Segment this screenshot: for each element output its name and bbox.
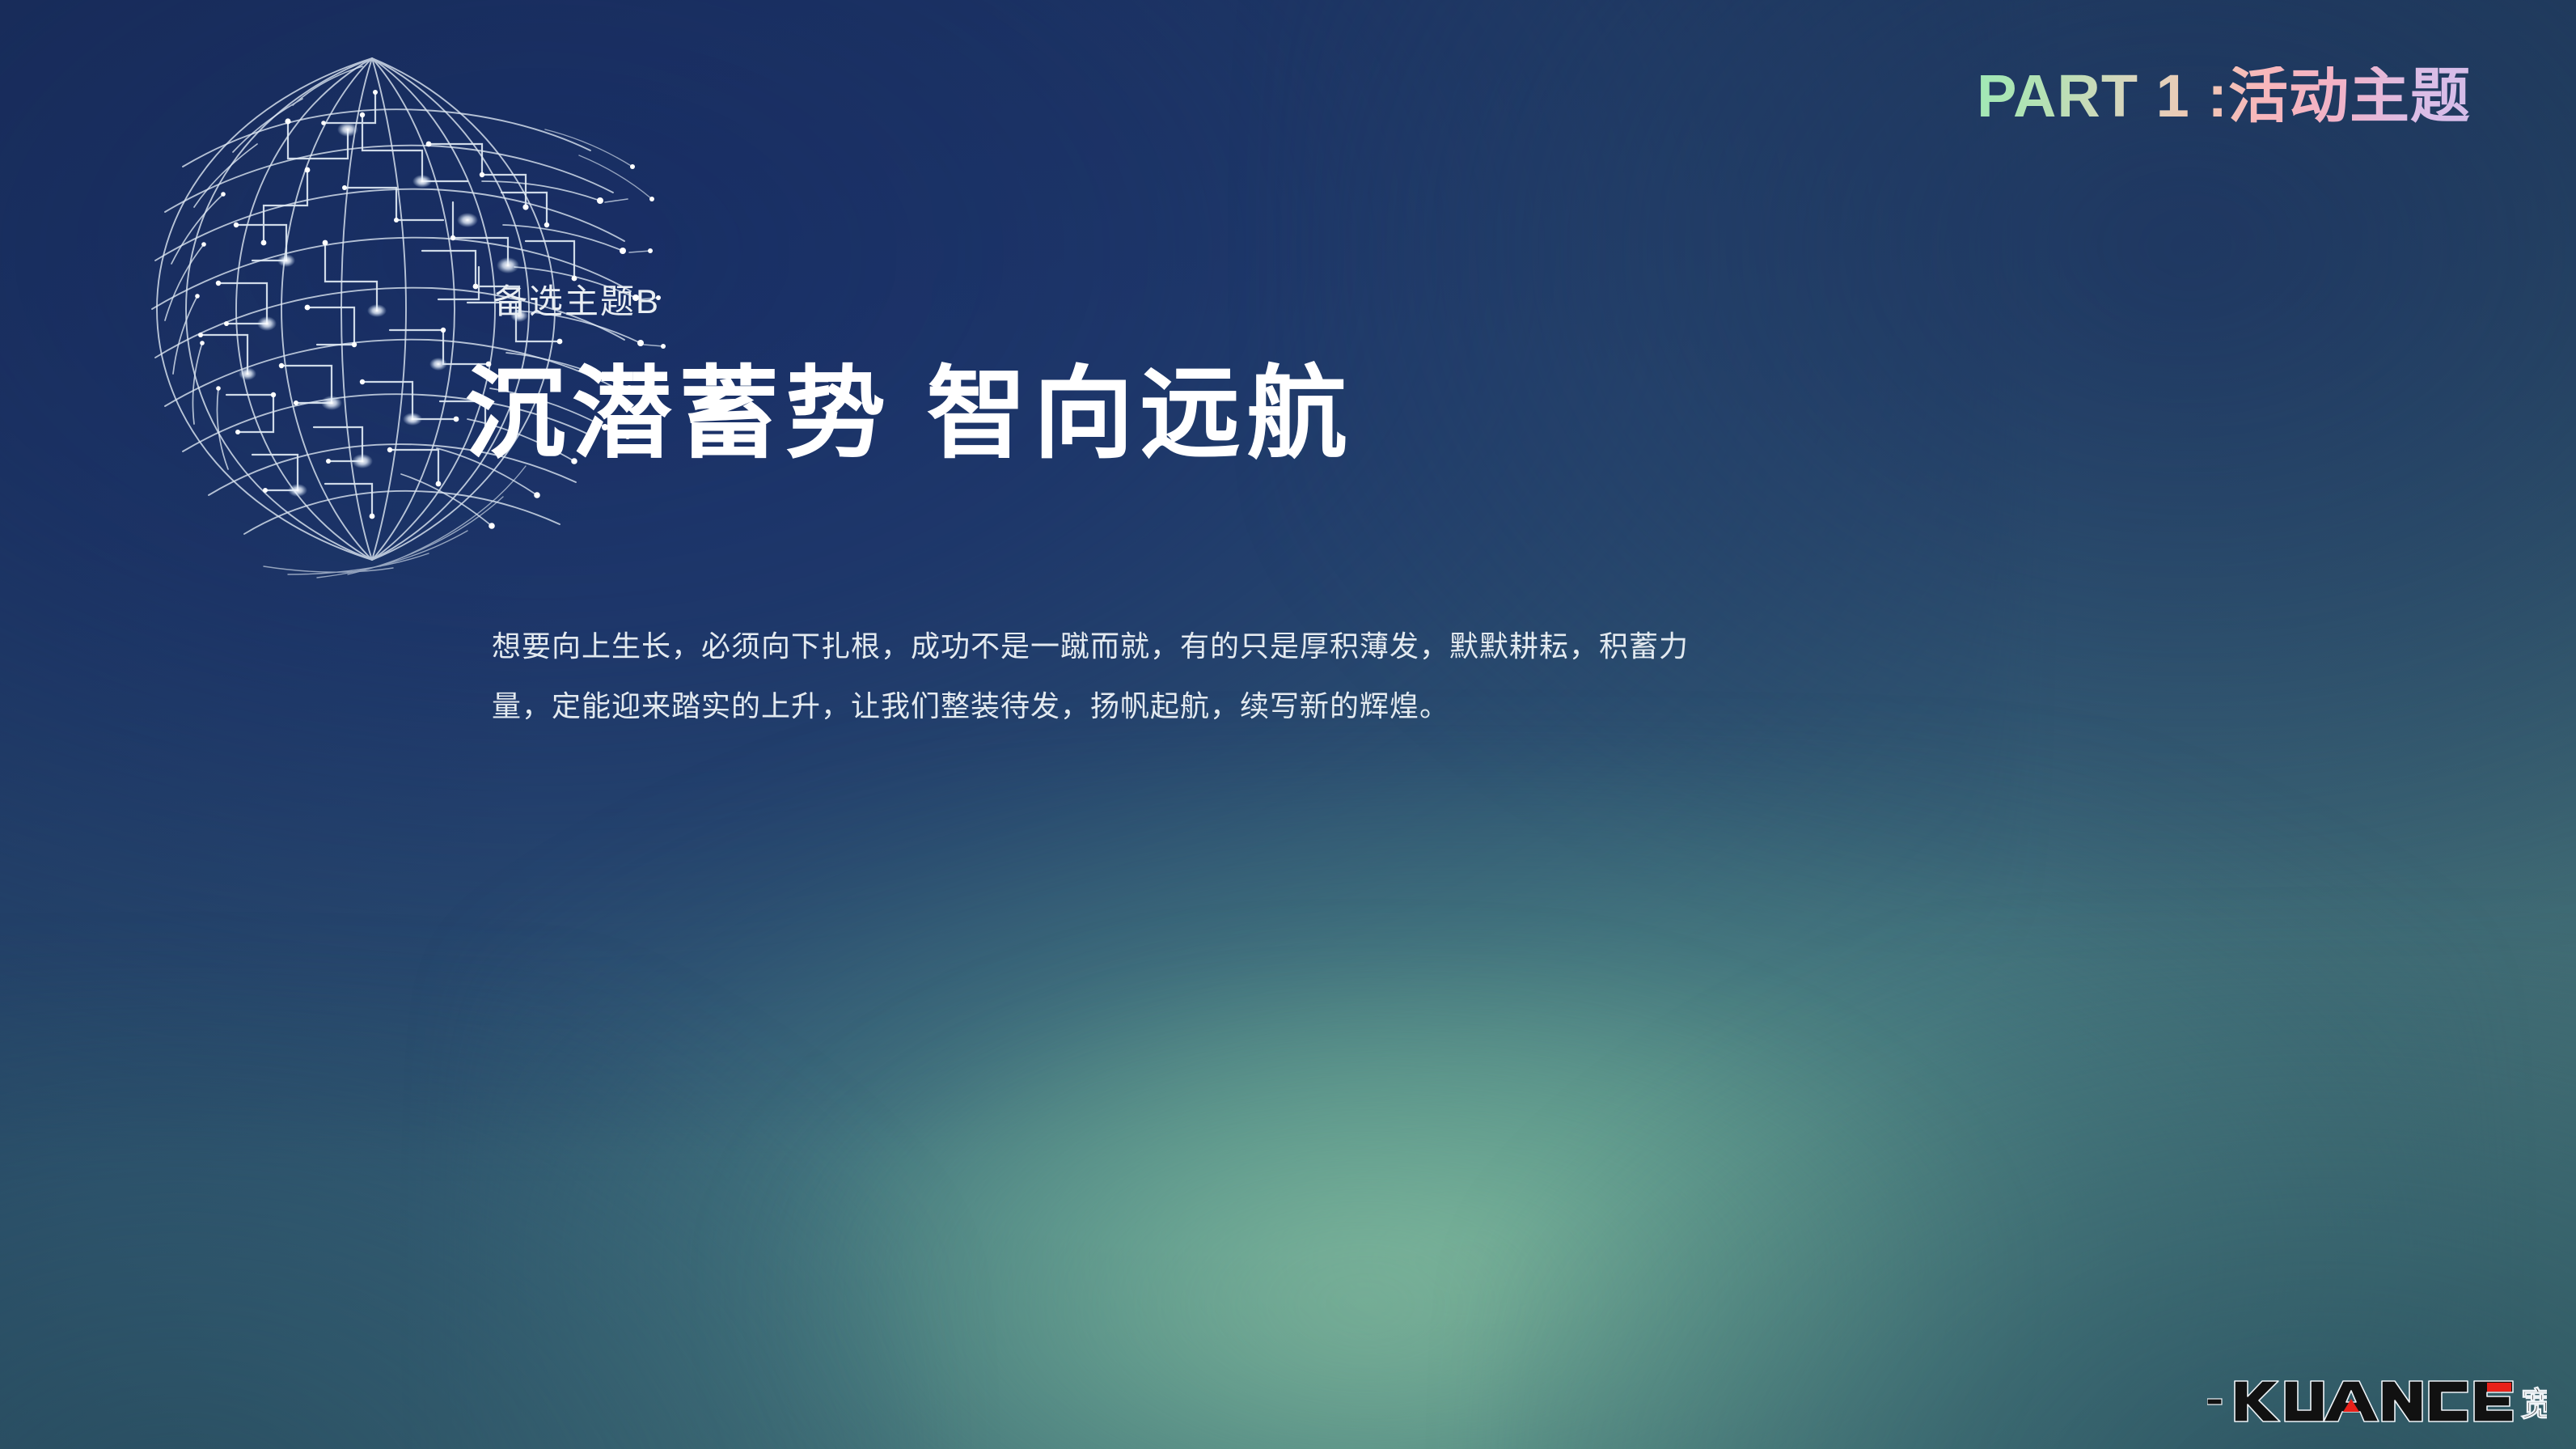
- slide-body-copy: 想要向上生长，必须向下扎根，成功不是一蹴而就，有的只是厚积薄发，默默耕耘，积蓄力…: [492, 616, 2045, 736]
- body-line-1: 想要向上生长，必须向下扎根，成功不是一蹴而就，有的只是厚积薄发，默默耕耘，积蓄力: [492, 616, 2045, 676]
- presentation-slide: PART 1 :活动主题 备选主题B 沉潜蓄势 智向远航 想要向上生长，必须向下…: [0, 0, 2576, 1449]
- slide-subtitle: 备选主题B: [493, 282, 660, 322]
- company-logo: 宽策展览 ®: [2207, 1375, 2547, 1428]
- part-label: PART 1 :活动主题: [1977, 66, 2471, 126]
- body-line-2: 量，定能迎来踏实的上升，让我们整装待发，扬帆起航，续写新的辉煌。: [492, 676, 2045, 736]
- logo-chinese-wordmark: 宽策展览: [2521, 1386, 2547, 1423]
- slide-headline: 沉潜蓄势 智向远航: [465, 350, 1353, 480]
- logo-latin-wordmark: [2235, 1381, 2513, 1421]
- logo-lead-dash: [2207, 1399, 2222, 1405]
- network-globe-graphic: [105, 8, 687, 655]
